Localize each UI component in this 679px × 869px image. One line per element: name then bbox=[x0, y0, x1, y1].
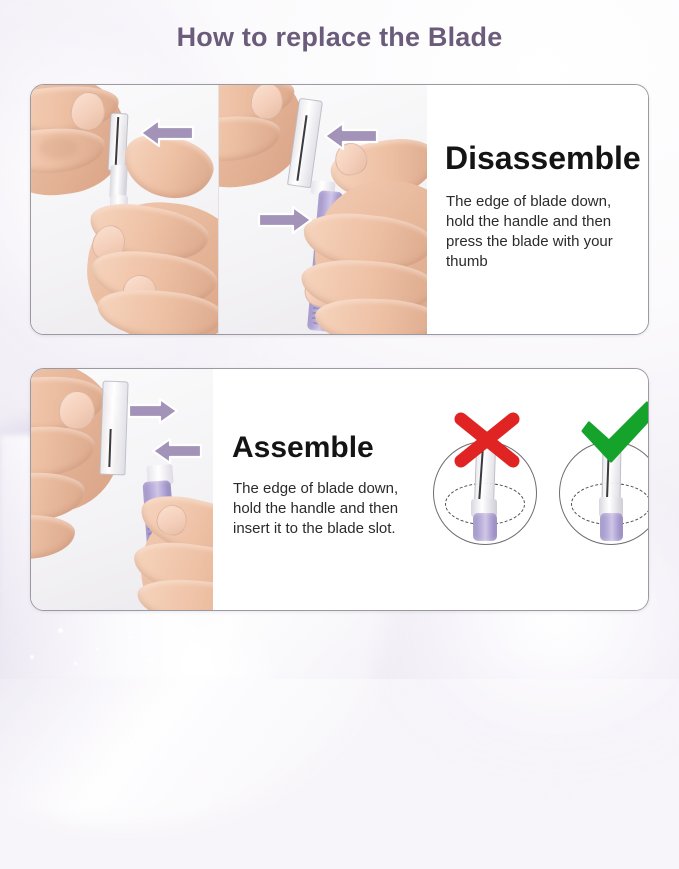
arrow-left-2 bbox=[323, 121, 379, 151]
blade-cap bbox=[99, 381, 128, 476]
photo-disassemble-step-1 bbox=[31, 85, 218, 334]
verdict-correct bbox=[551, 413, 649, 553]
background-sparkle bbox=[30, 655, 34, 659]
disassemble-body: The edge of blade down, hold the handle … bbox=[446, 192, 641, 272]
verdict-incorrect bbox=[425, 413, 545, 553]
knuckle-shadow bbox=[39, 137, 77, 159]
disassemble-text-panel: Disassemble The edge of blade down, hold… bbox=[427, 85, 648, 334]
arrow-left-3 bbox=[151, 437, 203, 465]
assemble-text-panel: Assemble The edge of blade down, hold th… bbox=[213, 369, 648, 610]
background-sparkle bbox=[128, 636, 131, 639]
photo-disassemble-step-2 bbox=[218, 85, 427, 334]
assemble-heading: Assemble bbox=[232, 431, 374, 465]
cross-icon bbox=[449, 409, 527, 476]
finger bbox=[314, 297, 427, 334]
arrow-left-1 bbox=[139, 118, 195, 148]
pen-body bbox=[600, 513, 623, 541]
page-title: How to replace the Blade bbox=[0, 22, 679, 53]
check-icon bbox=[577, 401, 649, 472]
background-sparkle bbox=[150, 658, 154, 662]
background-sparkle bbox=[74, 662, 77, 665]
card-assemble: Assemble The edge of blade down, hold th… bbox=[30, 368, 649, 611]
assemble-body: The edge of blade down, hold the handle … bbox=[233, 479, 419, 539]
background-sparkle bbox=[58, 628, 63, 633]
photo-assemble-step-1 bbox=[31, 369, 213, 610]
card-disassemble: Disassemble The edge of blade down, hold… bbox=[30, 84, 649, 335]
disassemble-heading: Disassemble bbox=[445, 140, 641, 177]
background-sparkle bbox=[96, 648, 99, 651]
pen-body bbox=[473, 513, 497, 541]
arrow-right-1 bbox=[257, 205, 313, 235]
arrow-right-2 bbox=[127, 397, 179, 425]
